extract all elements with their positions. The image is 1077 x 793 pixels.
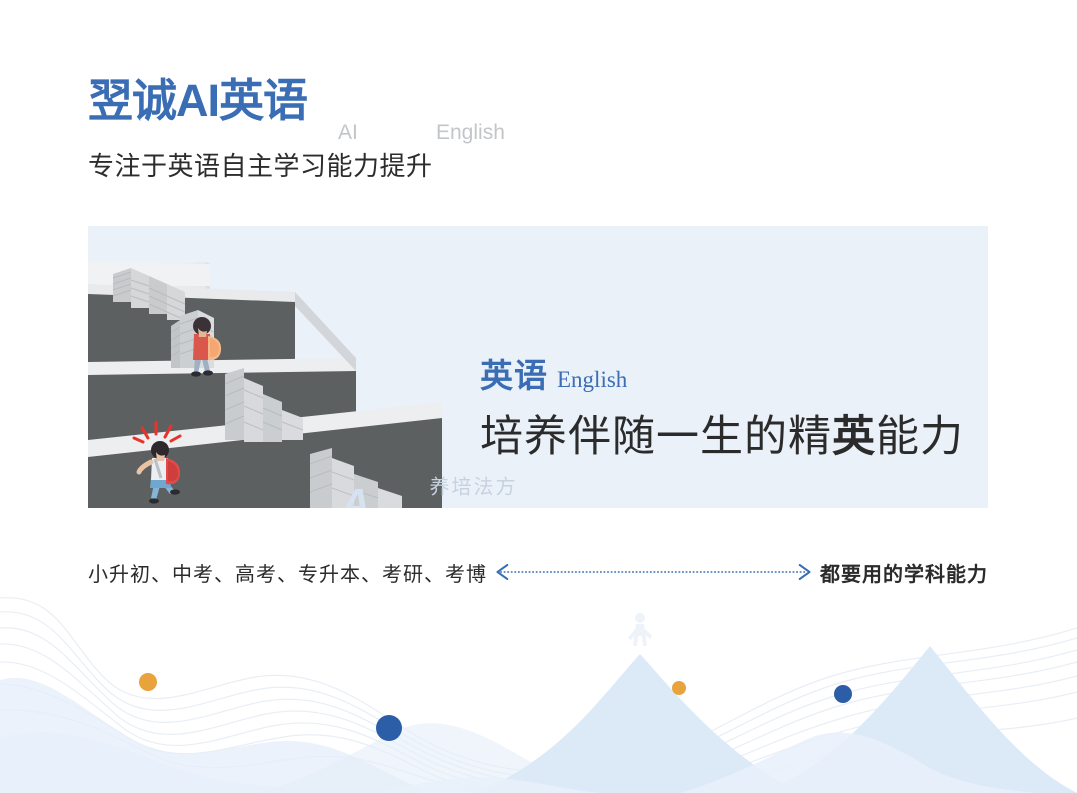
footer-caption-row: 小升初、中考、高考、专升本、考研、考博 都要用的学科能力 <box>88 557 988 587</box>
hero-banner: A B C 方法培养 成绩提升 英语English 培养伴随一生的精英能力 <box>88 226 988 508</box>
brand-row: 翌诚AI英语 AI English 专注于英语自主学习能力提升 <box>88 74 688 132</box>
vertical-label-method: 方法培养 <box>426 476 514 508</box>
decorative-mountains <box>0 588 1077 793</box>
subject-ability-text: 都要用的学科能力 <box>820 558 988 587</box>
brand-subtext-english: English <box>436 120 505 146</box>
page-header: 翌诚AI英语 AI English 专注于英语自主学习能力提升 <box>88 74 688 132</box>
banner-copy: 英语English 培养伴随一生的精英能力 <box>480 356 964 463</box>
ghost-letter-a: A <box>340 480 370 508</box>
banner-kicker-en: English <box>557 367 627 392</box>
exam-stages-text: 小升初、中考、高考、专升本、考研、考博 <box>88 558 487 587</box>
headline-part-1: 培养伴随一生的精 <box>480 413 832 461</box>
banner-kicker-cn: 英语 <box>480 357 548 394</box>
headline-emphasis: 英 <box>832 413 876 461</box>
headline-part-2: 能力 <box>876 413 964 461</box>
stairs-illustration <box>88 226 442 508</box>
brand-subtext-ai: AI <box>338 120 358 146</box>
page-title: 翌诚AI英语 <box>88 74 307 128</box>
double-arrow-connector <box>493 564 814 580</box>
banner-headline: 培养伴随一生的精英能力 <box>480 411 964 463</box>
banner-kicker: 英语English <box>480 356 964 407</box>
page-subtitle: 专注于英语自主学习能力提升 <box>88 150 433 182</box>
